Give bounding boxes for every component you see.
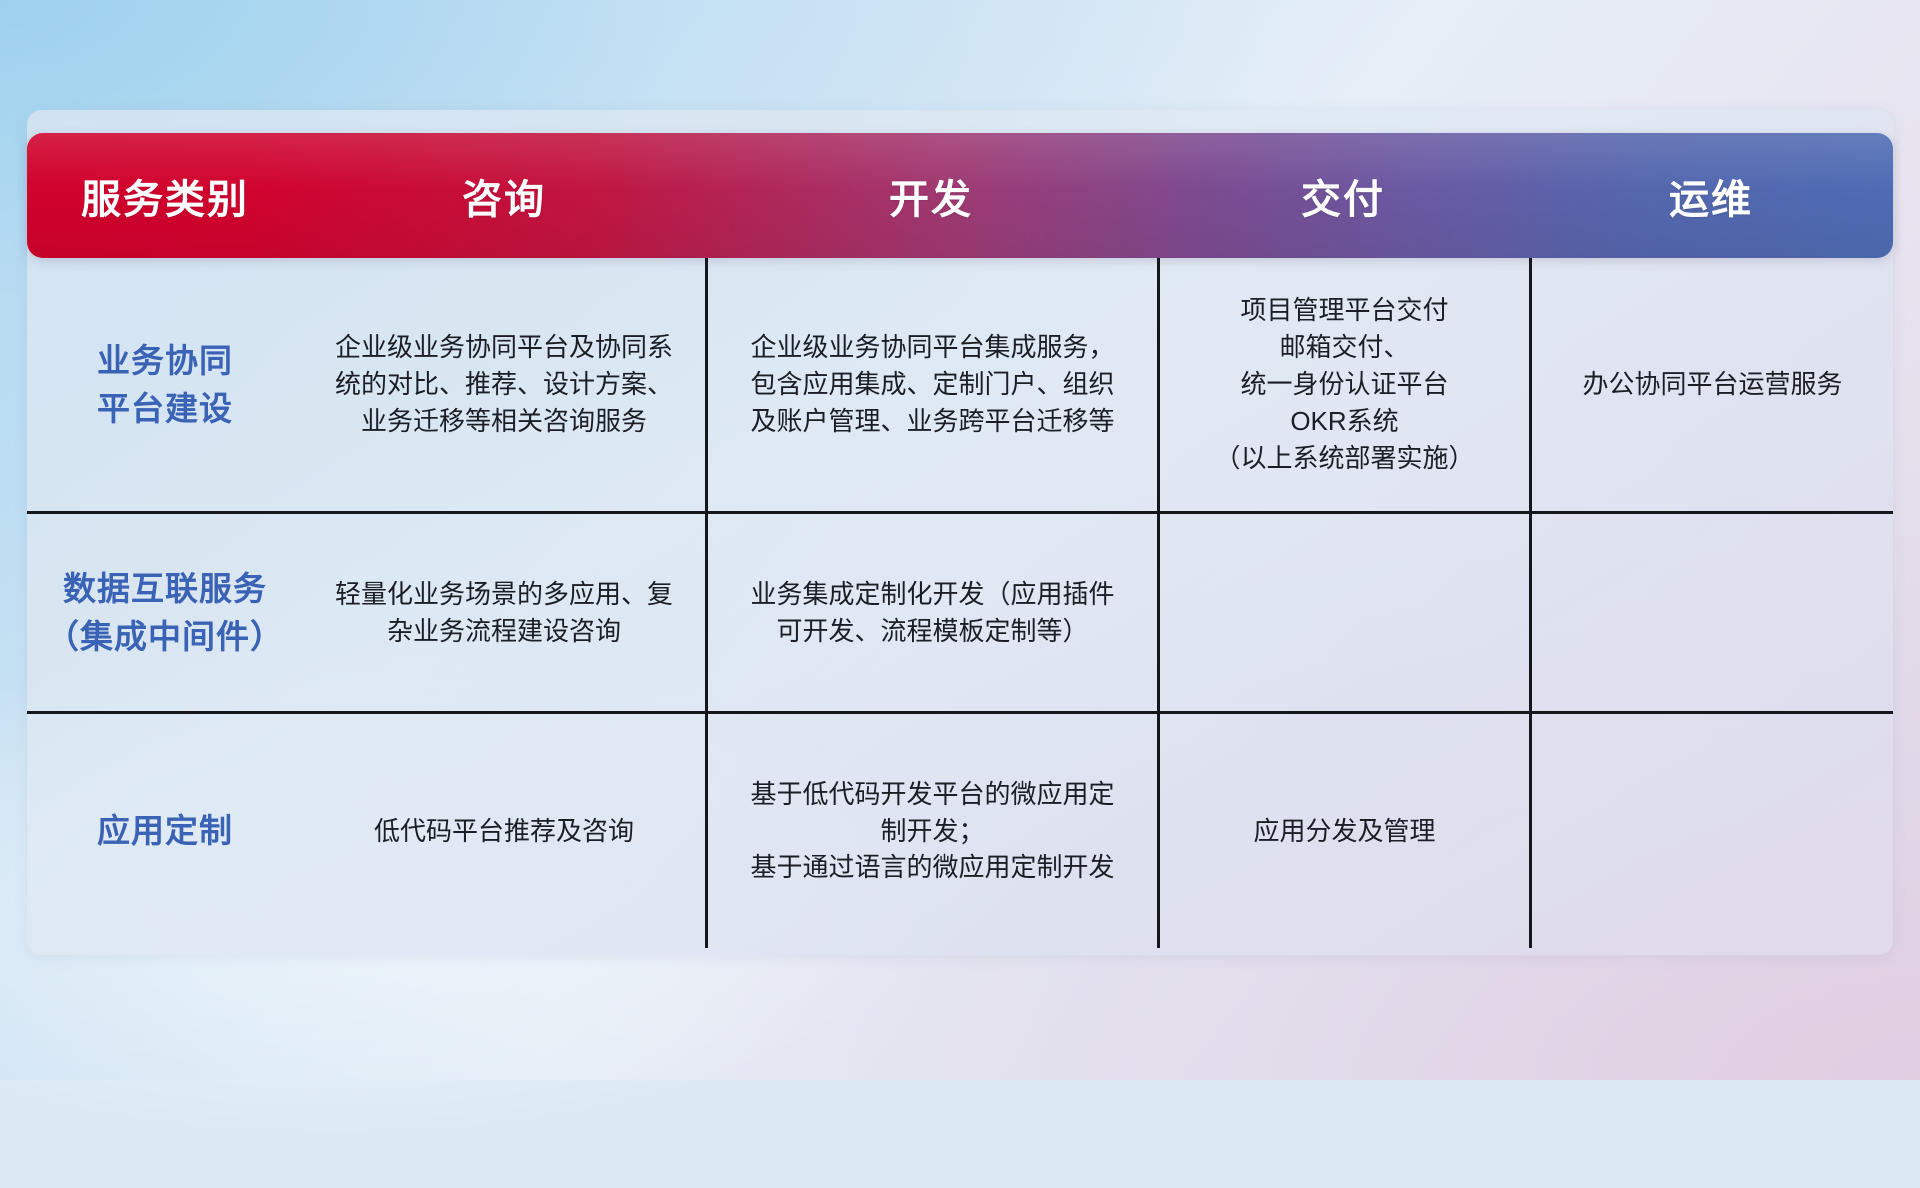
column-header-operations: 运维 xyxy=(1529,167,1893,225)
cell-consulting: 轻量化业务场景的多应用、复 杂业务流程建设咨询 xyxy=(303,514,705,711)
cell-consulting: 企业级业务协同平台及协同系 统的对比、推荐、设计方案、 业务迁移等相关咨询服务 xyxy=(303,258,705,511)
column-header-development: 开发 xyxy=(705,167,1157,225)
cell-development: 基于低代码开发平台的微应用定 制开发； 基于通过语言的微应用定制开发 xyxy=(705,714,1157,948)
table-row: 数据互联服务 （集成中间件） 轻量化业务场景的多应用、复 杂业务流程建设咨询 业… xyxy=(27,511,1893,711)
cell-delivery: 应用分发及管理 xyxy=(1157,714,1529,948)
cell-operations: 办公协同平台运营服务 xyxy=(1529,258,1893,511)
cell-development: 企业级业务协同平台集成服务， 包含应用集成、定制门户、组织 及账户管理、业务跨平… xyxy=(705,258,1157,511)
cell-consulting: 低代码平台推荐及咨询 xyxy=(303,714,705,948)
table-row: 业务协同 平台建设 企业级业务协同平台及协同系 统的对比、推荐、设计方案、 业务… xyxy=(27,258,1893,511)
column-header-delivery: 交付 xyxy=(1157,167,1529,225)
row-category-label: 数据互联服务 （集成中间件） xyxy=(27,514,303,711)
row-category-label: 业务协同 平台建设 xyxy=(27,258,303,511)
table-row: 应用定制 低代码平台推荐及咨询 基于低代码开发平台的微应用定 制开发； 基于通过… xyxy=(27,711,1893,948)
cell-delivery: 项目管理平台交付 邮箱交付、 统一身份认证平台 OKR系统 （以上系统部署实施） xyxy=(1157,258,1529,511)
cell-operations xyxy=(1529,514,1893,711)
cell-operations xyxy=(1529,714,1893,948)
row-category-label: 应用定制 xyxy=(27,714,303,948)
cell-development: 业务集成定制化开发（应用插件 可开发、流程模板定制等） xyxy=(705,514,1157,711)
column-header-category: 服务类别 xyxy=(27,167,303,225)
table-header-row: 服务类别 咨询 开发 交付 运维 xyxy=(27,133,1893,258)
slide-canvas: 服务类别 咨询 开发 交付 运维 业务协同 平台建设 企业级业务协同平台及协同系… xyxy=(0,0,1920,1080)
column-header-consulting: 咨询 xyxy=(303,167,705,225)
table-body: 业务协同 平台建设 企业级业务协同平台及协同系 统的对比、推荐、设计方案、 业务… xyxy=(27,258,1893,955)
cell-delivery xyxy=(1157,514,1529,711)
